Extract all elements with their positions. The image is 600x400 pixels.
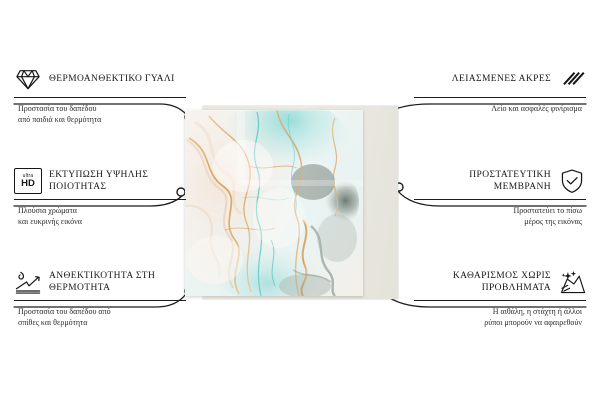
feature-description: Πλούσια χρώματακαι ευκρινής εικόνα <box>14 205 186 227</box>
feature-description: Προστατεύει το πίσωμέρος της εικόνας <box>414 205 586 227</box>
feature-divider <box>414 97 586 98</box>
diagonal-lines-icon <box>558 65 586 93</box>
product-image-group <box>185 110 380 300</box>
marble-artwork-svg <box>185 110 363 296</box>
feature-description: Προστασία του δαπέδου απόσπίθες και θερμ… <box>14 306 186 328</box>
feature-easy-cleaning: ΚΑΘΑΡΙΣΜΟΣ ΧΩΡΙΣ ΠΡΟΒΛΗΜΑΤΑ Η αιθάλη, η … <box>414 267 586 328</box>
feature-title: ΕΚΤΥΠΩΣΗ ΥΨΗΛΗΣ ΠΟΙΟΤΗΤΑΣ <box>49 169 186 194</box>
feature-polished-edges: ΛΕΙΑΣΜΕΝΕΣ ΑΚΡΕΣ Λείο και ασφαλές φινίρι… <box>414 64 586 114</box>
feature-divider <box>14 199 186 200</box>
feature-high-quality-print: ultra HD ΕΚΤΥΠΩΣΗ ΥΨΗΛΗΣ ΠΟΙΟΤΗΤΑΣ Πλούσ… <box>14 166 186 227</box>
feature-description: Προστασία του δαπέδουαπό παιδιά και θερμ… <box>14 103 186 125</box>
feature-protective-membrane: ΠΡΟΣΤΑΤΕΥΤΙΚΗ ΜΕΜΒΡΑΝΗ Προστατεύει το πί… <box>414 166 586 227</box>
shield-check-icon <box>558 167 586 195</box>
feature-divider <box>414 300 586 301</box>
feature-title: ΚΑΘΑΡΙΣΜΟΣ ΧΩΡΙΣ ΠΡΟΒΛΗΜΑΤΑ <box>414 270 551 295</box>
infographic-canvas: ΘΕΡΜΟΑΝΘΕΚΤΙΚΟ ΓΥΑΛΙ Προστασία του δαπέδ… <box>0 0 600 400</box>
feature-heat-durability: ΑΝΘΕΚΤΙΚΟΤΗΤΑ ΣΤΗ ΘΕΡΜΟΤΗΤΑ Προστασία το… <box>14 267 186 328</box>
feature-heat-resistant-glass: ΘΕΡΜΟΑΝΘΕΚΤΙΚΟ ΓΥΑΛΙ Προστασία του δαπέδ… <box>14 64 186 125</box>
feature-title: ΑΝΘΕΚΤΙΚΟΤΗΤΑ ΣΤΗ ΘΕΡΜΟΤΗΤΑ <box>49 270 186 295</box>
feature-description: Η αιθάλη, η στάχτη ή άλλοιρύποι μπορούν … <box>414 306 586 328</box>
product-artwork <box>185 110 363 296</box>
diamond-icon <box>14 65 42 93</box>
sparkle-cleaning-icon <box>558 268 586 296</box>
feature-description: Λείο και ασφαλές φινίρισμα <box>414 103 586 114</box>
feature-divider <box>14 300 186 301</box>
feature-title: ΛΕΙΑΣΜΕΝΕΣ ΑΚΡΕΣ <box>452 73 551 86</box>
feature-title: ΘΕΡΜΟΑΝΘΕΚΤΙΚΟ ΓΥΑΛΙ <box>49 73 175 86</box>
feature-divider <box>14 97 186 98</box>
flame-heat-resistance-icon <box>14 268 42 296</box>
ultra-hd-icon: ultra HD <box>14 167 42 195</box>
feature-title: ΠΡΟΣΤΑΤΕΥΤΙΚΗ ΜΕΜΒΡΑΝΗ <box>414 169 551 194</box>
feature-divider <box>414 199 586 200</box>
